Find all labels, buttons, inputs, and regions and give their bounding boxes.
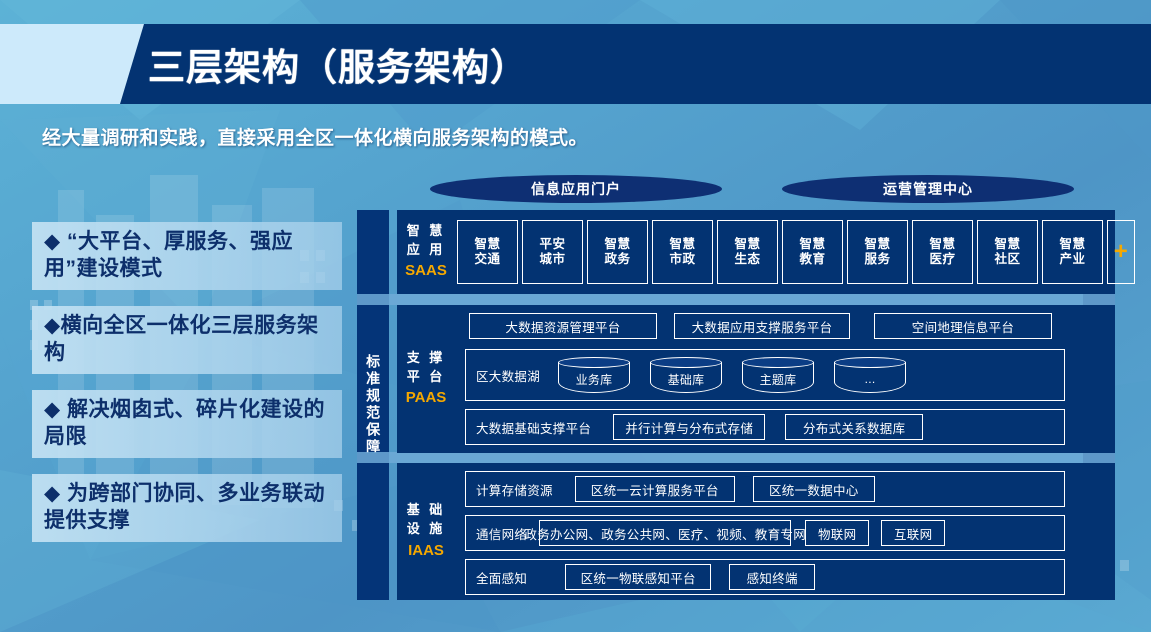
list-item-label: 横向全区一体化三层服务架构	[44, 314, 319, 364]
banner-label: 信息应用门户	[531, 179, 621, 199]
layer-saas-label-en: SAAS	[405, 260, 447, 282]
iaas-row-sensing: 全面感知 区统一物联感知平台 感知终端	[465, 559, 1065, 595]
data-lake-cylinders: 业务库 基础库 主题库 ...	[558, 357, 906, 393]
list-item-label: “大平台、厚服务、强应用”建设模式	[44, 230, 293, 280]
tile-line2: 医疗	[929, 252, 955, 267]
layer-saas: 智 慧 应 用 SAAS 智慧交通 平安城市 智慧政务 智慧市政 智慧生态 智慧…	[397, 210, 1115, 294]
tile-line2: 服务	[864, 252, 890, 267]
tile-line1: 智慧	[1059, 237, 1085, 252]
layer-iaas-label-line2: 设 施	[407, 520, 446, 539]
chip-distributed-db[interactable]: 分布式关系数据库	[785, 414, 923, 440]
saas-application-tiles: 智慧交通 平安城市 智慧政务 智慧市政 智慧生态 智慧教育 智慧服务 智慧医疗 …	[457, 220, 1135, 284]
layer-paas: 支 撑 平 台 PAAS 大数据资源管理平台 大数据应用支撑服务平台 空间地理信…	[397, 305, 1115, 453]
tile-line2: 教育	[799, 252, 825, 267]
tile-app[interactable]: 智慧教育	[782, 220, 843, 284]
tile-app[interactable]: 智慧生态	[717, 220, 778, 284]
tile-line2: 生态	[734, 252, 760, 267]
iaas-row-compute-storage: 计算存储资源 区统一云计算服务平台 区统一数据中心	[465, 471, 1065, 507]
tile-app[interactable]: 智慧社区	[977, 220, 1038, 284]
row-label: 大数据基础支撑平台	[466, 418, 591, 437]
list-item[interactable]: ◆ 为跨部门协同、多业务联动提供支撑	[32, 474, 342, 542]
layer-iaas-label-line1: 基 础	[407, 501, 446, 520]
page-title: 三层架构（服务架构）	[148, 37, 528, 91]
chip-government-networks[interactable]: 政务办公网、政务公共网、医疗、视频、教育专网	[539, 520, 791, 546]
cylinder-label: 主题库	[742, 368, 814, 390]
bullet-marker-icon: ◆	[44, 230, 61, 253]
chip-data-center[interactable]: 区统一数据中心	[753, 476, 875, 502]
tile-app[interactable]: 平安城市	[522, 220, 583, 284]
cylinder-database[interactable]: 基础库	[650, 357, 722, 393]
tile-app[interactable]: 智慧服务	[847, 220, 908, 284]
tile-line2: 政务	[604, 252, 630, 267]
tile-line1: 智慧	[474, 237, 500, 252]
row-label: 计算存储资源	[466, 480, 553, 499]
tile-line1: 智慧	[734, 237, 760, 252]
chip-cloud-platform[interactable]: 区统一云计算服务平台	[575, 476, 735, 502]
page-subtitle: 经大量调研和实践，直接采用全区一体化横向服务架构的模式。	[42, 123, 588, 150]
row-label: 区大数据湖	[466, 366, 540, 385]
list-item[interactable]: ◆ 解决烟囱式、碎片化建设的局限	[32, 390, 342, 458]
bullet-marker-icon: ◆	[44, 398, 61, 421]
tile-line2: 市政	[669, 252, 695, 267]
layer-saas-label-line2: 应 用	[407, 241, 446, 260]
tile-line2: 交通	[474, 252, 500, 267]
tile-line2: 产业	[1059, 252, 1085, 267]
tile-app[interactable]: 智慧市政	[652, 220, 713, 284]
tile-line1: 平安	[539, 237, 565, 252]
architecture-diagram: 标准规范保障 网络安全保障 智 慧 应 用 SAAS 智慧交通 平安城市 智慧政…	[357, 210, 1115, 600]
cylinder-database[interactable]: ...	[834, 357, 906, 393]
list-item-label: 解决烟囱式、碎片化建设的局限	[44, 398, 325, 448]
banner-label: 运营管理中心	[883, 179, 973, 199]
sidebar-standards-guarantee[interactable]: 标准规范保障	[357, 210, 389, 600]
bullet-marker-icon: ◆	[44, 314, 61, 337]
chip-parallel-compute[interactable]: 并行计算与分布式存储	[613, 414, 765, 440]
bullet-marker-icon: ◆	[44, 482, 61, 505]
paas-row-data-lake: 区大数据湖 业务库 基础库 主题库 ...	[465, 349, 1065, 401]
tile-app[interactable]: 智慧政务	[587, 220, 648, 284]
sidebar-label: 标准规范保障	[363, 354, 383, 456]
banner-information-portal[interactable]: 信息应用门户	[430, 175, 722, 203]
cylinder-database[interactable]: 主题库	[742, 357, 814, 393]
chip-iot-sensing-platform[interactable]: 区统一物联感知平台	[565, 564, 711, 590]
cylinder-database[interactable]: 业务库	[558, 357, 630, 393]
add-application-button[interactable]: +	[1107, 220, 1135, 284]
layer-paas-label-en: PAAS	[406, 387, 447, 409]
paas-box-app-support[interactable]: 大数据应用支撑服务平台	[674, 313, 850, 339]
layers-panel: 智 慧 应 用 SAAS 智慧交通 平安城市 智慧政务 智慧市政 智慧生态 智慧…	[397, 210, 1115, 600]
tile-app[interactable]: 智慧产业	[1042, 220, 1103, 284]
tile-line1: 智慧	[604, 237, 630, 252]
list-item-label: 为跨部门协同、多业务联动提供支撑	[44, 482, 325, 532]
layer-iaas-label: 基 础 设 施 IAAS	[397, 463, 455, 600]
iaas-row-network: 通信网络 政务办公网、政务公共网、医疗、视频、教育专网 物联网 互联网	[465, 515, 1065, 551]
cylinder-label: ...	[834, 368, 906, 390]
tile-app[interactable]: 智慧医疗	[912, 220, 973, 284]
cylinder-label: 业务库	[558, 368, 630, 390]
tile-app[interactable]: 智慧交通	[457, 220, 518, 284]
cylinder-label: 基础库	[650, 368, 722, 390]
chip-sensing-terminal[interactable]: 感知终端	[729, 564, 815, 590]
list-item[interactable]: ◆横向全区一体化三层服务架构	[32, 306, 342, 374]
layer-saas-label: 智 慧 应 用 SAAS	[397, 210, 455, 294]
chip-iot-network[interactable]: 物联网	[805, 520, 869, 546]
building-window	[1120, 560, 1129, 571]
paas-row-base-support: 大数据基础支撑平台 并行计算与分布式存储 分布式关系数据库	[465, 409, 1065, 445]
chip-internet[interactable]: 互联网	[881, 520, 945, 546]
paas-box-gis[interactable]: 空间地理信息平台	[874, 313, 1052, 339]
layer-iaas: 基 础 设 施 IAAS 计算存储资源 区统一云计算服务平台 区统一数据中心 通…	[397, 463, 1115, 600]
row-label: 通信网络	[466, 524, 527, 543]
tile-line1: 智慧	[799, 237, 825, 252]
tile-line2: 社区	[994, 252, 1020, 267]
tile-line1: 智慧	[669, 237, 695, 252]
row-label: 全面感知	[466, 568, 527, 587]
tile-line1: 智慧	[929, 237, 955, 252]
tile-line2: 城市	[539, 252, 565, 267]
banner-operations-center[interactable]: 运营管理中心	[782, 175, 1074, 203]
list-item[interactable]: ◆ “大平台、厚服务、强应用”建设模式	[32, 222, 342, 290]
layer-paas-label: 支 撑 平 台 PAAS	[397, 305, 455, 453]
tile-line1: 智慧	[994, 237, 1020, 252]
layer-paas-label-line2: 平 台	[407, 368, 446, 387]
title-bar: 三层架构（服务架构）	[0, 24, 1151, 104]
key-points-list: ◆ “大平台、厚服务、强应用”建设模式 ◆横向全区一体化三层服务架构 ◆ 解决烟…	[32, 222, 342, 558]
paas-box-resource-mgmt[interactable]: 大数据资源管理平台	[469, 313, 657, 339]
layer-paas-label-line1: 支 撑	[407, 349, 446, 368]
tile-line1: 智慧	[864, 237, 890, 252]
layer-iaas-label-en: IAAS	[408, 540, 444, 562]
layer-saas-label-line1: 智 慧	[407, 222, 446, 241]
